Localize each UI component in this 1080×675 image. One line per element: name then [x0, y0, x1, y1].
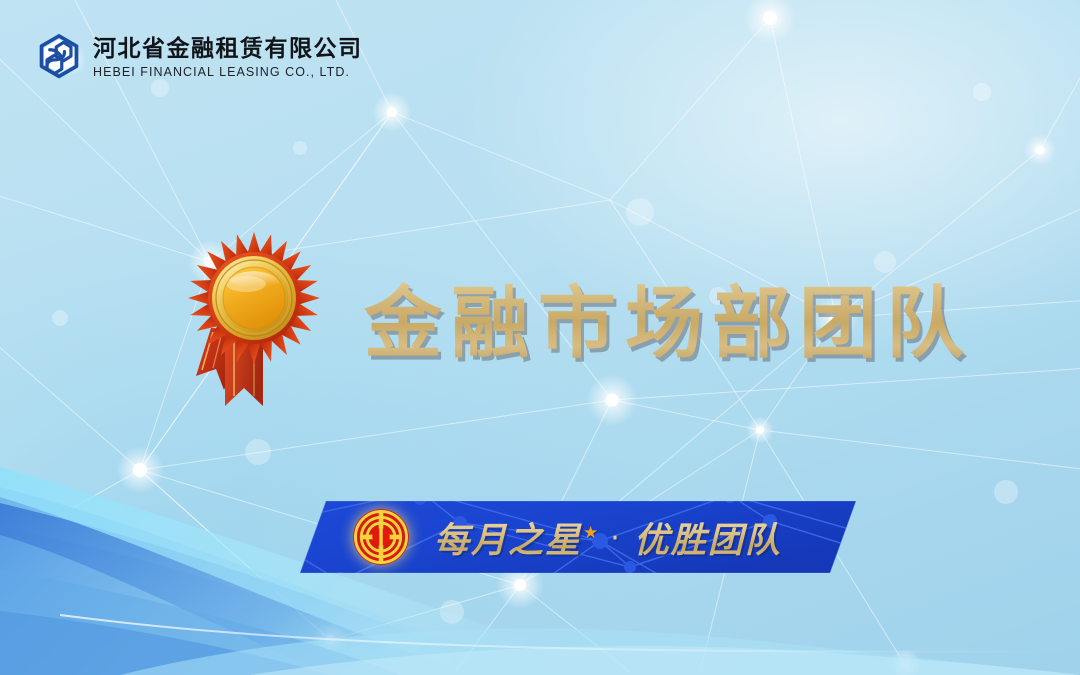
banner-separator: ·	[610, 521, 620, 556]
company-logo-block: 河北省金融租赁有限公司 HEBEI FINANCIAL LEASING CO.,…	[36, 33, 363, 83]
company-name-en: HEBEI FINANCIAL LEASING CO., LTD.	[93, 66, 363, 79]
page-title: 金融市场部团队	[364, 261, 983, 373]
rosette-medal-icon	[178, 228, 330, 406]
hero-row: 金融市场部团队	[178, 228, 983, 406]
banner-text-left: 每月之星	[434, 512, 582, 563]
company-name-cn: 河北省金融租赁有限公司	[93, 38, 363, 61]
star-icon: ★	[583, 523, 598, 543]
award-banner: 每月之星 ★ · 优胜团队	[300, 501, 856, 573]
slide-canvas: 河北省金融租赁有限公司 HEBEI FINANCIAL LEASING CO.,…	[0, 0, 1080, 675]
banner-text-right: 优胜团队	[634, 512, 782, 563]
trade-union-emblem-icon	[352, 508, 410, 566]
hexagon-interlock-logo-icon	[36, 33, 82, 83]
